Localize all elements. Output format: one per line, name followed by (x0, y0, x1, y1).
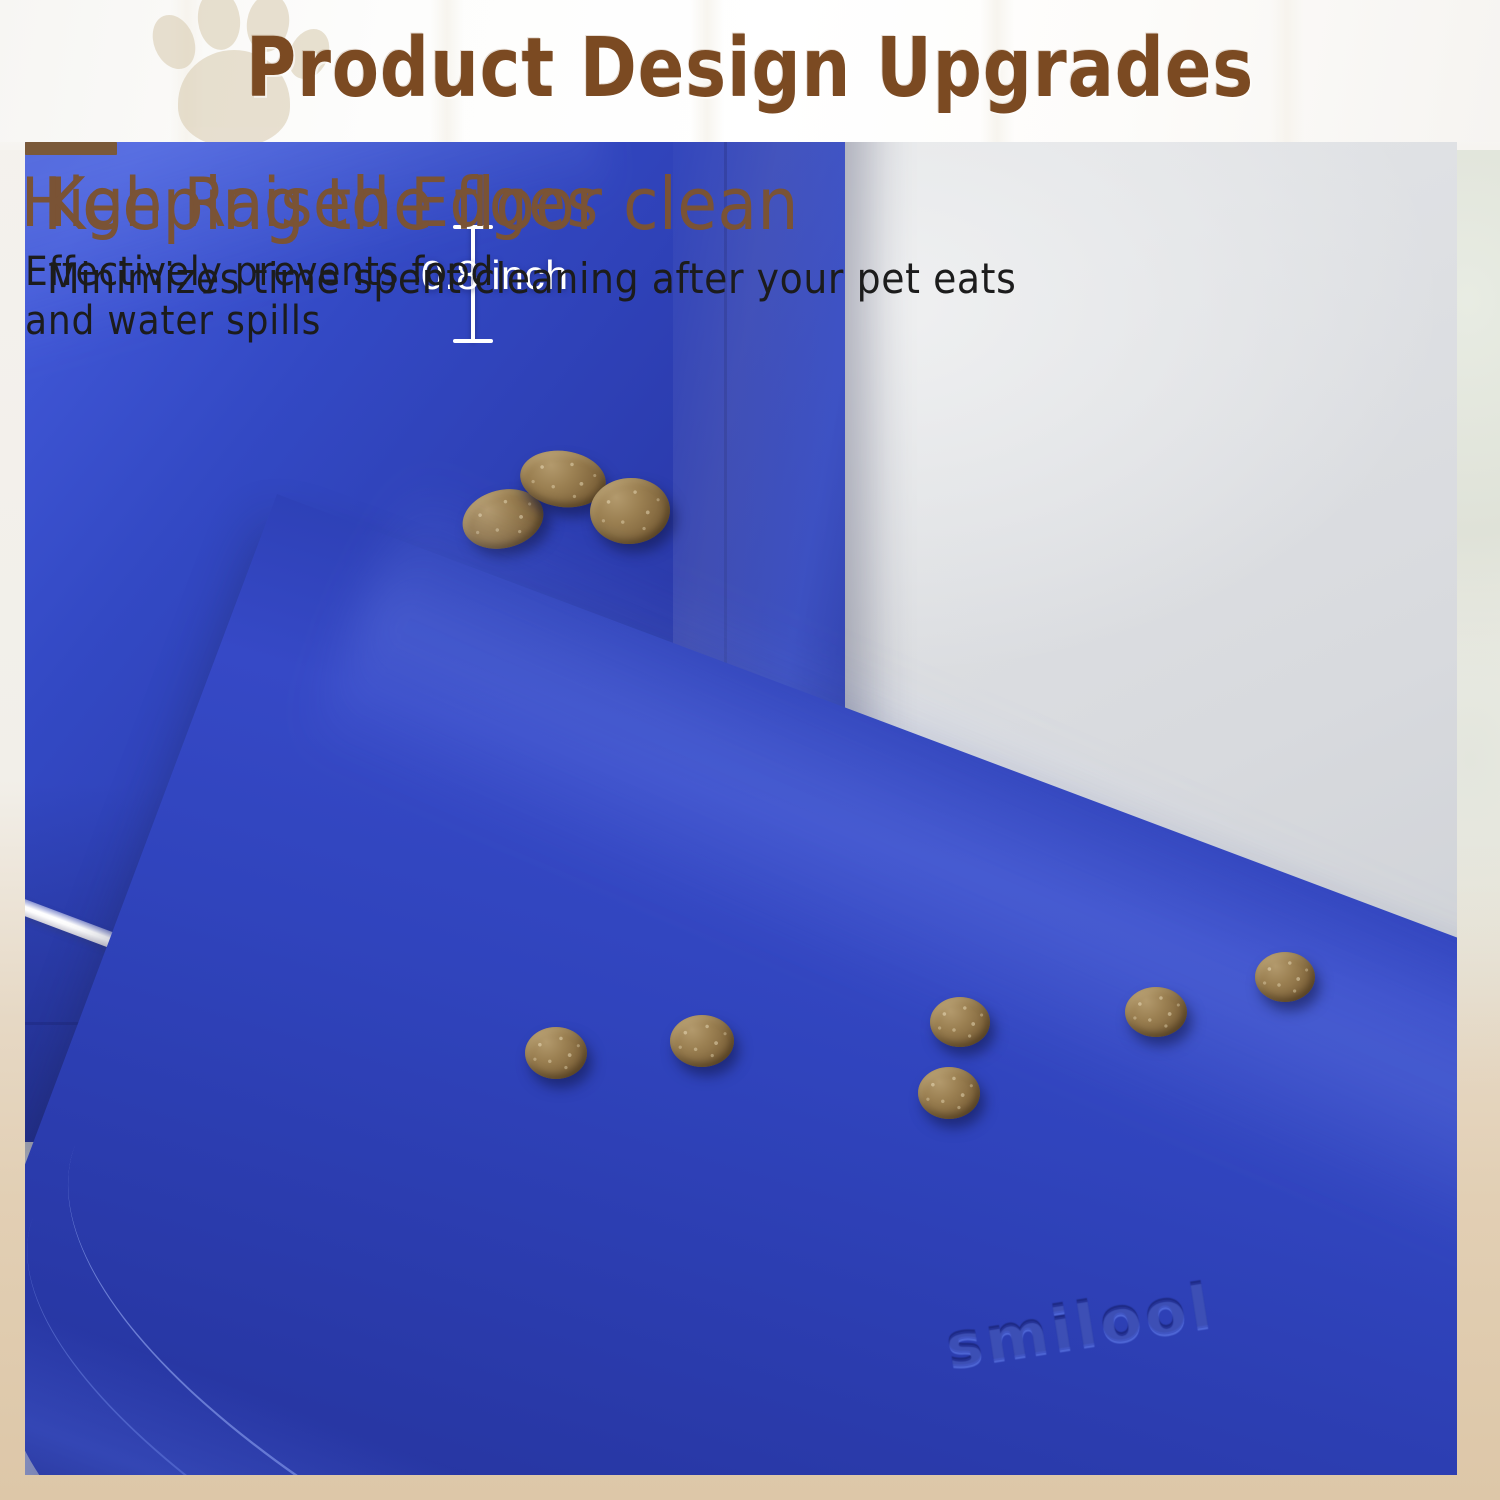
callout-body: Minimizes time spent cleaning after your… (47, 254, 1016, 303)
product-infographic-poster: Product Design Upgrades 0.8 inch (0, 0, 1500, 1500)
page-title: Product Design Upgrades (53, 21, 1448, 116)
callout-heading: Keeping the floor clean (43, 162, 799, 246)
kibble-piece (525, 1027, 587, 1079)
header-band: Product Design Upgrades (0, 0, 1500, 142)
kibble-piece (670, 1015, 734, 1067)
kibble-piece (1125, 987, 1187, 1037)
kibble-piece (918, 1067, 980, 1119)
product-photo-frame: 0.8 inch smilool High Raised Edges Effec… (25, 142, 1457, 1475)
mat-lower-underside (25, 494, 1457, 1475)
kibble-piece (930, 997, 990, 1047)
accent-bar (47, 142, 117, 155)
kibble-piece (1255, 952, 1315, 1002)
